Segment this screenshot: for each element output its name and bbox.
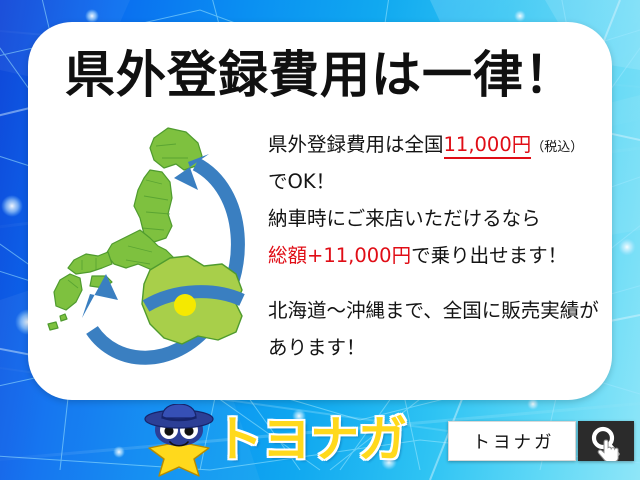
copy-line-4-suffix: で乗り出せます！	[411, 244, 567, 267]
copy-line-1-suffix: （税込）	[531, 140, 583, 155]
cursor-hand-icon	[598, 440, 618, 461]
toyonaga-mascot	[139, 404, 219, 480]
copy-line-3: 納車時にご来店いただけるなら	[268, 200, 606, 237]
search-icon	[582, 423, 634, 461]
japan-map-illustration	[46, 118, 274, 390]
copy-spacer	[268, 274, 606, 292]
copy-line-5: 北海道〜沖縄まで、全国に販売実績が	[268, 292, 606, 329]
copy-line-6: あります！	[268, 329, 606, 366]
copy-line-1: 県外登録費用は全国11,000円（税込）	[268, 126, 606, 163]
search-button[interactable]	[578, 421, 634, 461]
search-input[interactable]: トヨナガ	[448, 421, 576, 461]
copy-line-1-price: 11,000円	[444, 133, 532, 159]
copy-line-2: でOK！	[268, 163, 606, 200]
page-title: 県外登録費用は一律！	[28, 49, 612, 102]
store-location-marker	[174, 294, 196, 316]
copy-line-4-price: 総額+11,000円	[268, 244, 411, 267]
copy-line-1-prefix: 県外登録費用は全国	[268, 133, 444, 156]
search-input-value: トヨナガ	[470, 429, 555, 454]
body-copy: 県外登録費用は全国11,000円（税込） でOK！ 納車時にご来店いただけるなら…	[268, 126, 606, 366]
brand-logo-text[interactable]: トヨナガ	[214, 412, 406, 468]
promo-card: 県外登録費用は一律！	[28, 22, 612, 400]
copy-line-4: 総額+11,000円で乗り出せます！	[268, 237, 606, 274]
